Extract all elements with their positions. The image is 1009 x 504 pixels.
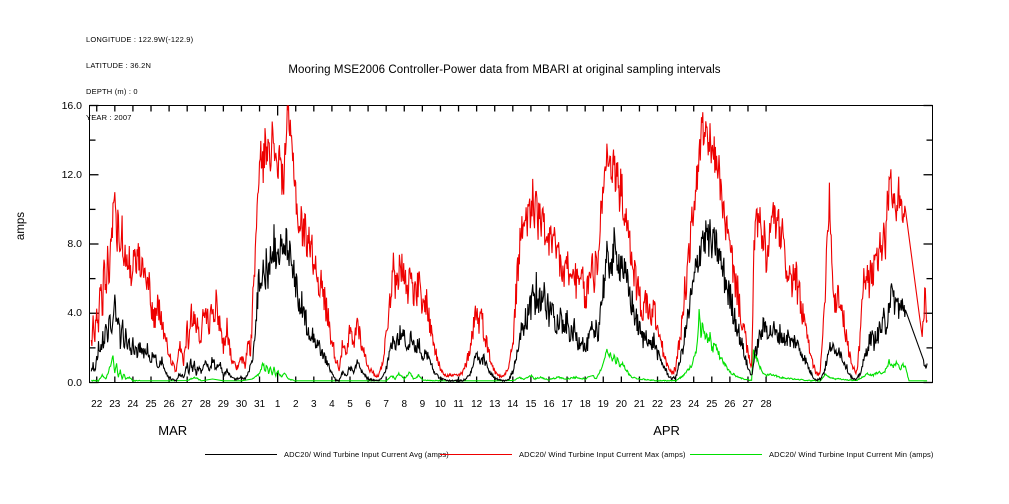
series-line	[91, 106, 927, 378]
legend-item: ADC20/ Wind Turbine Input Current Max (a…	[440, 450, 686, 459]
month-label: MAR	[158, 423, 187, 438]
legend-label: ADC20/ Wind Turbine Input Current Min (a…	[769, 450, 934, 459]
legend-line-swatch	[205, 454, 277, 455]
legend-label: ADC20/ Wind Turbine Input Current Max (a…	[519, 450, 686, 459]
legend-item: ADC20/ Wind Turbine Input Current Min (a…	[690, 450, 934, 459]
month-labels: MARAPR	[0, 423, 1009, 441]
legend-line-swatch	[440, 454, 512, 455]
legend-label: ADC20/ Wind Turbine Input Current Avg (a…	[284, 450, 449, 459]
legend-item: ADC20/ Wind Turbine Input Current Avg (a…	[205, 450, 449, 459]
x-axis-ticks: 2223242526272829303112345678910111213141…	[0, 399, 1009, 413]
chart-legend: ADC20/ Wind Turbine Input Current Avg (a…	[0, 447, 1009, 465]
month-label: APR	[653, 423, 680, 438]
x-tick-label: 28	[755, 399, 777, 410]
legend-line-swatch	[690, 454, 762, 455]
